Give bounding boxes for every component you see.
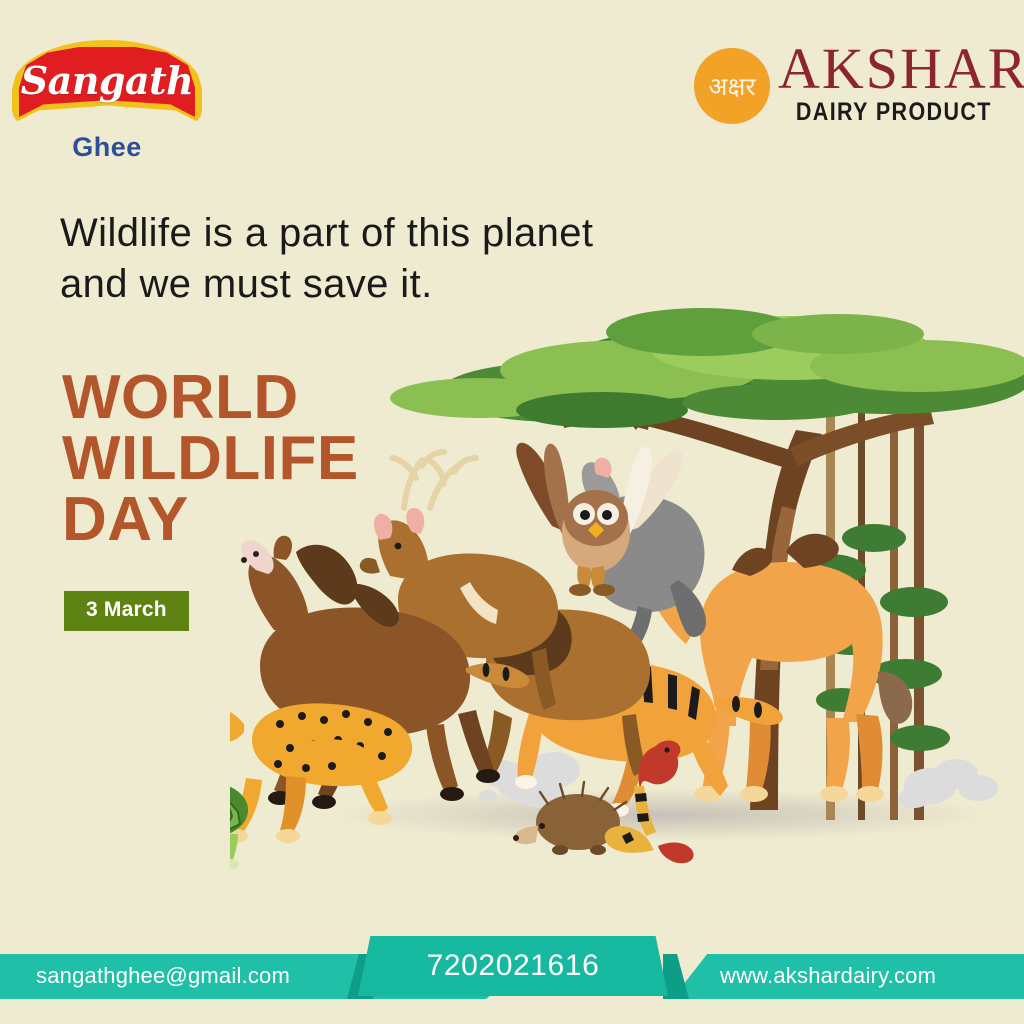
akshar-logo: अक्षर AKSHAR DAIRY PRODUCT: [694, 36, 994, 136]
sangath-banner-shape: Sangath TM: [12, 40, 202, 124]
poster-canvas: Sangath TM Ghee अक्षर AKSHAR DAIRY PRODU…: [0, 0, 1024, 1024]
sangath-wordmark: Sangath: [12, 58, 202, 103]
wildlife-illustration: [230, 270, 1024, 870]
footer-email-text[interactable]: sangathghee@gmail.com: [36, 963, 290, 989]
cheetah: [230, 703, 412, 843]
footer-website-text[interactable]: www.akshardairy.com: [720, 963, 936, 989]
date-badge: 3 March: [64, 591, 189, 631]
trademark-symbol: TM: [192, 38, 208, 50]
footer-phone-ribbon: 7202021616: [358, 936, 668, 996]
footer-contact-bar: sangathghee@gmail.com www.akshardairy.co…: [0, 910, 1024, 1024]
sangath-product-label: Ghee: [12, 132, 202, 163]
akshar-wordmark: AKSHAR: [778, 40, 1024, 98]
akshar-subtitle: DAIRY PRODUCT: [796, 98, 992, 127]
akshar-circle-mark: अक्षर: [694, 48, 770, 124]
akshar-devanagari-text: अक्षर: [708, 74, 755, 99]
tagline-line-1: Wildlife is a part of this planet: [60, 208, 740, 259]
footer-phone-text[interactable]: 7202021616: [358, 949, 668, 983]
footer-website-bar: www.akshardairy.com: [672, 954, 1024, 999]
sangath-logo: Sangath TM Ghee: [12, 40, 212, 165]
